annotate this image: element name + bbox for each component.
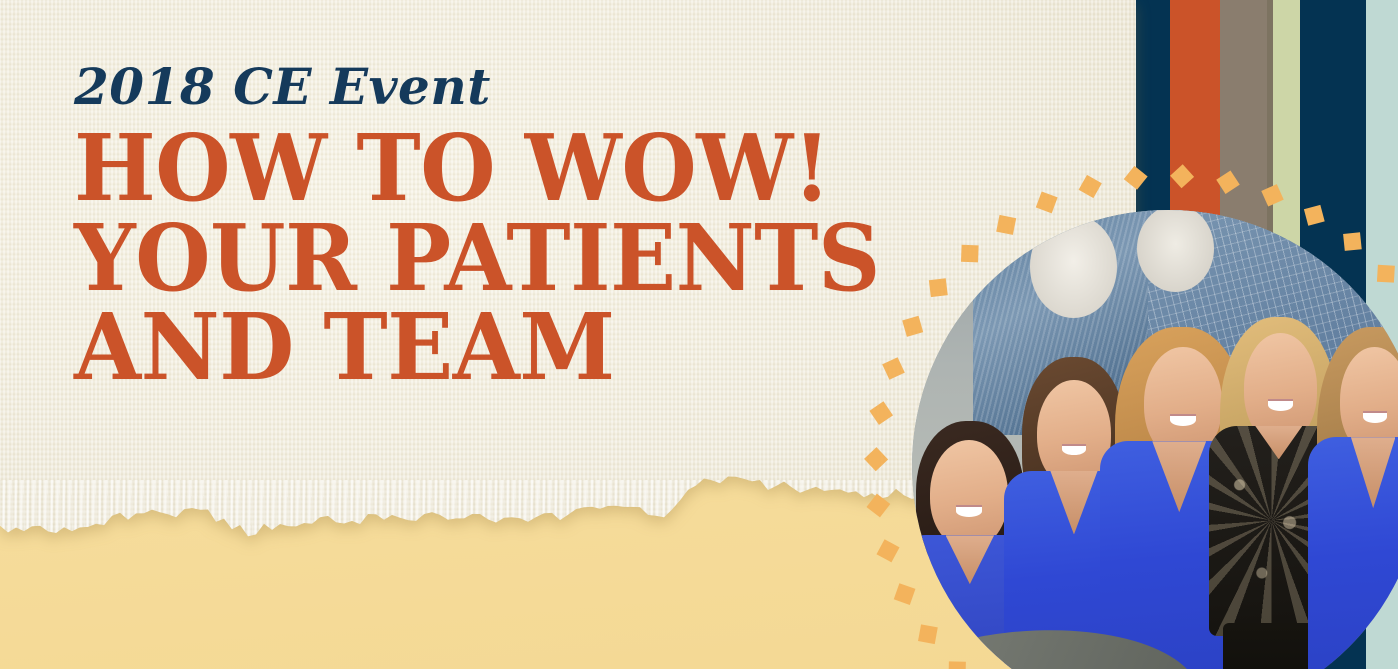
headline-line-3: AND TEAM xyxy=(74,305,901,391)
smile xyxy=(1268,399,1293,411)
blue-scrub-top xyxy=(1308,437,1398,669)
neckline xyxy=(946,535,995,584)
neckline xyxy=(1050,471,1097,535)
smile xyxy=(1170,414,1196,426)
neckline xyxy=(1351,437,1396,508)
smile xyxy=(1363,411,1386,423)
neckline xyxy=(1255,426,1302,460)
event-eyebrow: 2018 CE Event xyxy=(74,62,954,112)
team-photo-scene xyxy=(912,210,1398,669)
smile xyxy=(956,505,983,517)
backdrop-highlight xyxy=(1030,215,1117,317)
headline-block: 2018 CE Event HOW TO WOW! YOUR PATIENTS … xyxy=(74,62,954,391)
team-photo xyxy=(912,210,1398,669)
headline-line-1: HOW TO WOW! xyxy=(74,126,901,212)
smile xyxy=(1062,444,1087,456)
event-banner: 2018 CE Event HOW TO WOW! YOUR PATIENTS … xyxy=(0,0,1398,669)
team-member-5 xyxy=(1301,323,1398,669)
headline-line-2: YOUR PATIENTS xyxy=(74,216,901,302)
